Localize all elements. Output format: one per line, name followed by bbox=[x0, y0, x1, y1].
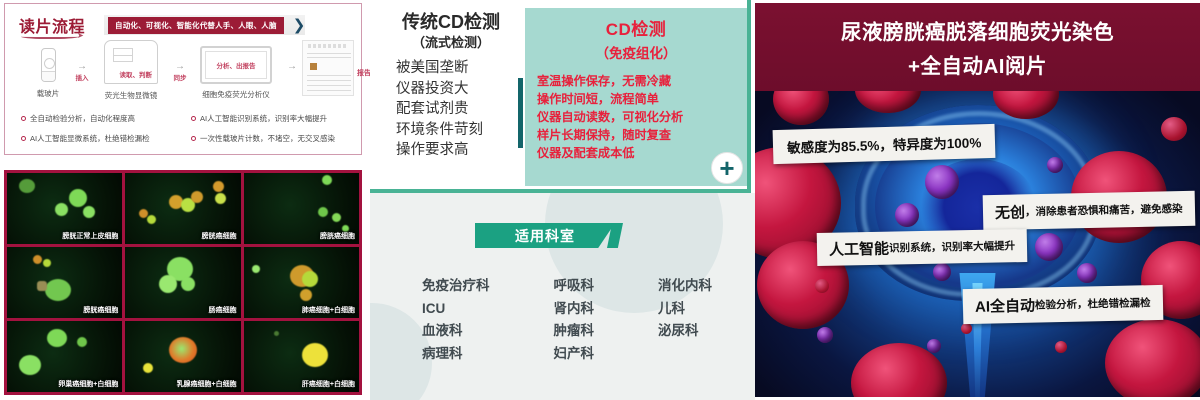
callout-ai-recognition: 人工智能 识别系统，识别率大幅提升 bbox=[817, 229, 1028, 266]
tumor-cell-decor bbox=[1047, 157, 1063, 173]
workflow-banner: 自动化、可视化、智能化代替人手、人眼、人脑 ❯ bbox=[104, 15, 305, 35]
bullet-dot-icon bbox=[191, 116, 196, 121]
cell-image-grid: 膀胱正常上皮细胞 膀胱癌细胞 膀胱癌细胞 bbox=[4, 170, 362, 395]
cell-image-caption: 乳腺癌细胞+白细胞 bbox=[177, 379, 237, 389]
workflow-banner-text: 自动化、可视化、智能化代替人手、人眼、人脑 bbox=[108, 17, 284, 34]
workflow-card: 读片流程 ➤ 自动化、可视化、智能化代替人手、人眼、人脑 ❯ 载玻片 → 插入 bbox=[4, 3, 362, 155]
cell-image-caption: 肺癌细胞+白细胞 bbox=[302, 305, 355, 315]
glass-slide-icon bbox=[41, 48, 56, 82]
callout-sensitivity: 敏感度为85.5% ，特异度为100% bbox=[773, 124, 996, 164]
traditional-subtitle: （流式检测） bbox=[386, 32, 516, 51]
tumor-cell-decor bbox=[1077, 263, 1097, 283]
department-item: ICU bbox=[422, 298, 490, 321]
callout-ai-recognition-bold: 人工智能 bbox=[829, 238, 889, 260]
tumor-cell-decor bbox=[815, 279, 829, 293]
chevron-right-icon: ❯ bbox=[293, 18, 306, 33]
traditional-list-item: 配套试剂贵 bbox=[396, 99, 483, 120]
traditional-title: 传统CD检测 bbox=[386, 8, 516, 34]
workflow-bullet-label: AI人工智能显微系统，杜绝错检漏检 bbox=[30, 133, 150, 144]
flow-step-slide-caption: 载玻片 bbox=[23, 88, 73, 99]
department-item: 血液科 bbox=[422, 320, 490, 343]
arrow-right-icon: → bbox=[281, 62, 303, 72]
workflow-bullet: 一次性载玻片计数，不堵空，无交叉感染 bbox=[191, 133, 335, 144]
hero-illustration: 敏感度为85.5% ，特异度为100% 无创 ，消除患者恐惧和痛苦，避免感染 人… bbox=[755, 91, 1200, 397]
hero-title-line2: +全自动AI阅片 bbox=[908, 49, 1047, 79]
traditional-list-item: 仪器投资大 bbox=[396, 79, 483, 100]
callout-ai-automation: AI全自动 检验分析，杜绝错检漏检 bbox=[963, 285, 1163, 324]
tumor-cell-decor bbox=[1035, 233, 1063, 261]
traditional-list-item: 被美国垄断 bbox=[396, 58, 483, 79]
traditional-list: 被美国垄断 仪器投资大 配套试剂贵 环境条件苛刻 操作要求高 bbox=[396, 58, 483, 161]
workflow-bullet-label: 一次性载玻片计数，不堵空，无交叉感染 bbox=[200, 133, 335, 144]
hero-title-line1: 尿液膀胱癌脱落细胞荧光染色 bbox=[841, 15, 1114, 45]
department-item: 儿科 bbox=[658, 298, 712, 321]
tumor-cell-decor bbox=[1055, 341, 1067, 353]
flow-step-analyzer: 分析、出报告 细胞免疫荧光分析仪 bbox=[189, 46, 283, 100]
cell-image-tile[interactable]: 膀胱正常上皮细胞 bbox=[7, 173, 122, 244]
cd-list-item: 室温操作保存，无需冷藏 bbox=[537, 72, 747, 90]
cell-image-tile[interactable]: 乳腺癌细胞+白细胞 bbox=[125, 321, 240, 392]
cell-image-tile[interactable]: 肝癌细胞+白细胞 bbox=[244, 321, 359, 392]
callout-ai-recognition-rest: 识别系统，识别率大幅提升 bbox=[889, 238, 1015, 255]
department-item: 病理科 bbox=[422, 343, 490, 366]
cell-image-caption: 膀胱癌细胞 bbox=[320, 231, 355, 241]
left-panel: 读片流程 ➤ 自动化、可视化、智能化代替人手、人眼、人脑 ❯ 载玻片 → 插入 bbox=[0, 0, 370, 400]
cd-list: 室温操作保存，无需冷藏 操作时间短，流程简单 仪器自动读数，可视化分析 样片长期… bbox=[537, 72, 747, 162]
tumor-cell-decor bbox=[895, 203, 919, 227]
cell-image-caption: 卵巢癌细胞+白细胞 bbox=[58, 379, 118, 389]
workflow-bullet-label: 全自动检验分析，自动化程度高 bbox=[30, 113, 135, 124]
tumor-cell-decor bbox=[773, 91, 829, 125]
report-line-decor bbox=[307, 57, 351, 58]
workflow-bullet-label: AI人工智能识别系统，识别率大幅提升 bbox=[200, 113, 327, 124]
title-arrow-decor: ➤ bbox=[77, 32, 84, 40]
cd-list-item: 操作时间短，流程简单 bbox=[537, 90, 747, 108]
callout-sensitivity-rest: ，特异度为100% bbox=[879, 131, 982, 154]
department-item: 泌尿科 bbox=[658, 320, 712, 343]
vertical-accent-bar bbox=[747, 0, 751, 193]
tumor-cell-decor bbox=[925, 165, 959, 199]
workflow-bullet: 全自动检验分析，自动化程度高 bbox=[21, 113, 135, 124]
microscope-screen-decor bbox=[113, 48, 133, 62]
departments-column: 呼吸科 肾内科 肿瘤科 妇产科 bbox=[554, 275, 595, 365]
cd-subtitle: （免疫组化） bbox=[525, 42, 747, 62]
flow-step-microscope-caption: 荧光生物显微镜 bbox=[91, 90, 171, 101]
departments-columns: 免疫治疗科 ICU 血液科 病理科 呼吸科 肾内科 肿瘤科 妇产科 消化内科 儿… bbox=[422, 275, 712, 365]
departments-banner: 适用科室 bbox=[475, 223, 615, 248]
flow-step-report bbox=[301, 40, 355, 96]
middle-panel: 传统CD检测 （流式检测） 被美国垄断 仪器投资大 配套试剂贵 环境条件苛刻 操… bbox=[370, 0, 755, 400]
bullet-dot-icon bbox=[21, 136, 26, 141]
cell-image-tile[interactable]: 膀胱癌细胞 bbox=[7, 247, 122, 318]
hero-banner: 尿液膀胱癌脱落细胞荧光染色 +全自动AI阅片 bbox=[755, 3, 1200, 397]
tumor-cell-decor bbox=[927, 339, 941, 353]
cell-image-caption: 膀胱癌细胞 bbox=[202, 231, 237, 241]
departments-section: 适用科室 免疫治疗科 ICU 血液科 病理科 呼吸科 肾内科 肿瘤科 妇产科 消… bbox=[370, 193, 755, 400]
callout-ai-automation-rest: 检验分析，杜绝错检漏检 bbox=[1035, 295, 1151, 312]
department-item: 消化内科 bbox=[658, 275, 712, 298]
bullet-dot-icon bbox=[21, 116, 26, 121]
tumor-cell-decor bbox=[817, 327, 833, 343]
callout-ai-automation-bold: AI全自动 bbox=[975, 295, 1035, 317]
analyzer-icon: 分析、出报告 bbox=[200, 46, 272, 84]
callout-noninvasive-rest: ，消除患者恐惧和痛苦，避免感染 bbox=[1025, 201, 1183, 219]
bullet-dot-icon bbox=[191, 136, 196, 141]
flow-step-microscope: 读取、判断 荧光生物显微镜 bbox=[91, 40, 171, 101]
cell-image-tile[interactable]: 膀胱癌细胞 bbox=[125, 173, 240, 244]
cell-image-tile[interactable]: 肠癌细胞 bbox=[125, 247, 240, 318]
tumor-cell-decor bbox=[961, 323, 972, 334]
cell-image-caption: 膀胱正常上皮细胞 bbox=[62, 231, 118, 241]
workflow-bullet: AI人工智能显微系统，杜绝错检漏检 bbox=[21, 133, 150, 144]
cell-image-caption: 膀胱癌细胞 bbox=[83, 305, 118, 315]
callout-noninvasive: 无创 ，消除患者恐惧和痛苦，避免感染 bbox=[983, 191, 1195, 230]
flow-step-slide: 载玻片 bbox=[23, 48, 73, 99]
comparison-section: 传统CD检测 （流式检测） 被美国垄断 仪器投资大 配套试剂贵 环境条件苛刻 操… bbox=[370, 0, 755, 193]
department-item: 妇产科 bbox=[554, 343, 595, 366]
report-line-decor bbox=[307, 80, 351, 81]
cd-title: CD检测 bbox=[525, 15, 747, 40]
department-item: 呼吸科 bbox=[554, 275, 595, 298]
departments-column: 免疫治疗科 ICU 血液科 病理科 bbox=[422, 275, 490, 365]
cd-panel: CD检测 （免疫组化） 室温操作保存，无需冷藏 操作时间短，流程简单 仪器自动读… bbox=[525, 8, 747, 186]
callout-noninvasive-bold: 无创 bbox=[995, 201, 1025, 223]
report-stamp-decor bbox=[310, 63, 317, 70]
plus-icon[interactable]: + bbox=[711, 152, 743, 184]
cd-list-item: 样片长期保持，随时复查 bbox=[537, 126, 747, 144]
hero-title-block: 尿液膀胱癌脱落细胞荧光染色 +全自动AI阅片 bbox=[755, 3, 1200, 91]
callout-sensitivity-bold: 敏感度为85.5% bbox=[787, 134, 880, 157]
right-panel: 尿液膀胱癌脱落细胞荧光染色 +全自动AI阅片 bbox=[755, 0, 1200, 400]
poster-root: 读片流程 ➤ 自动化、可视化、智能化代替人手、人眼、人脑 ❯ 载玻片 → 插入 bbox=[0, 0, 1200, 400]
flow-step-microscope-inner-label: 读取、判断 bbox=[120, 69, 153, 79]
flow-step-analyzer-caption: 细胞免疫荧光分析仪 bbox=[189, 89, 283, 100]
report-line-decor bbox=[307, 53, 351, 54]
cell-image-tile[interactable]: 膀胱癌细胞 bbox=[244, 173, 359, 244]
flow-arrow-3: → bbox=[281, 62, 303, 72]
cell-image-caption: 肝癌细胞+白细胞 bbox=[302, 379, 355, 389]
tumor-cell-decor bbox=[933, 263, 951, 281]
title-underline-decor bbox=[21, 33, 79, 39]
traditional-list-item: 环境条件苛刻 bbox=[396, 120, 483, 141]
tumor-cell-decor bbox=[1105, 319, 1200, 397]
report-line-decor bbox=[307, 75, 351, 76]
report-line-decor bbox=[307, 85, 351, 86]
cell-grid-inner: 膀胱正常上皮细胞 膀胱癌细胞 膀胱癌细胞 bbox=[7, 173, 359, 392]
department-item: 肾内科 bbox=[554, 298, 595, 321]
report-line-decor bbox=[307, 90, 351, 91]
cell-image-tile[interactable]: 卵巢癌细胞+白细胞 bbox=[7, 321, 122, 392]
cell-image-caption: 肠癌细胞 bbox=[209, 305, 237, 315]
tumor-cell-decor bbox=[1161, 117, 1187, 141]
flow-step-analyzer-inner-label: 分析、出报告 bbox=[217, 60, 256, 70]
analyzer-screen-decor: 分析、出报告 bbox=[205, 51, 267, 79]
traditional-list-item: 操作要求高 bbox=[396, 140, 483, 161]
workflow-bullet: AI人工智能识别系统，识别率大幅提升 bbox=[191, 113, 327, 124]
department-item: 肿瘤科 bbox=[554, 320, 595, 343]
departments-column: 消化内科 儿科 泌尿科 bbox=[658, 275, 712, 365]
report-document-icon bbox=[302, 40, 354, 96]
report-header-decor bbox=[308, 44, 348, 48]
cd-list-item: 仪器自动读数，可视化分析 bbox=[537, 108, 747, 126]
department-item: 免疫治疗科 bbox=[422, 275, 490, 298]
cell-image-tile[interactable]: 肺癌细胞+白细胞 bbox=[244, 247, 359, 318]
cd-panel-accent-bar bbox=[518, 78, 523, 148]
microscope-icon: 读取、判断 bbox=[104, 40, 158, 84]
workflow-flow: 载玻片 → 插入 读取、判断 荧光生物显微镜 → bbox=[5, 40, 363, 106]
